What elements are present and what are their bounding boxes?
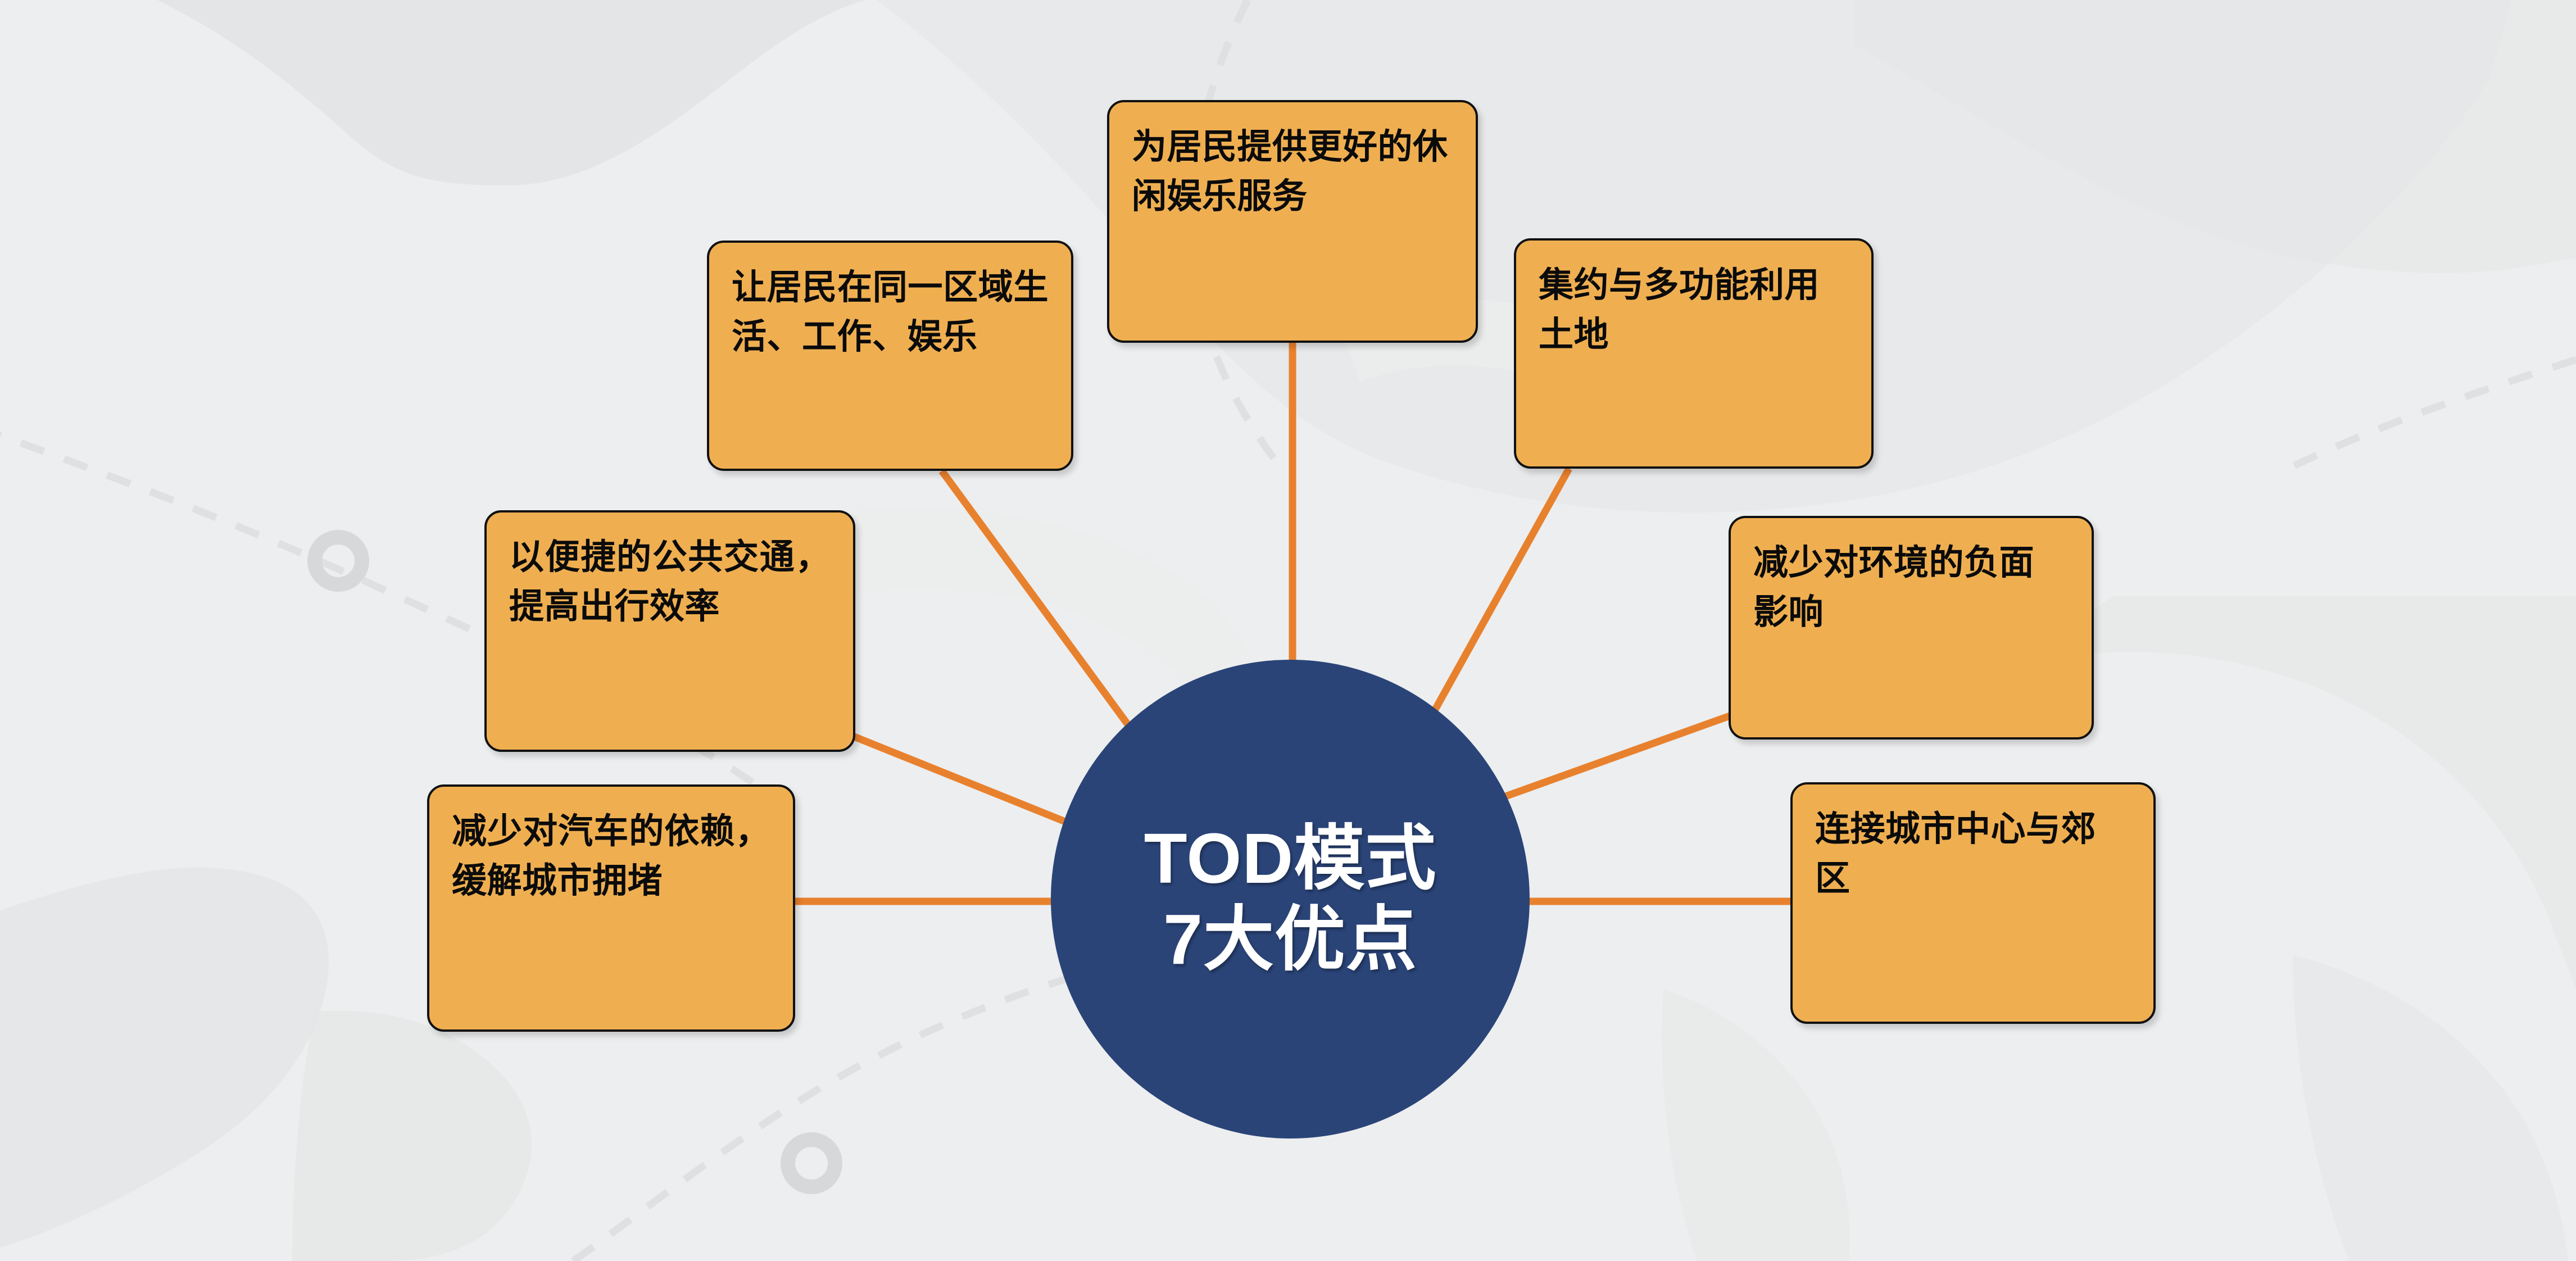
node-environment[interactable]: 减少对环境的负面影响	[1729, 516, 2094, 740]
connector-land-use	[1434, 469, 1569, 711]
center-hub[interactable]: TOD模式 7大优点	[1051, 660, 1530, 1138]
connector-live-work-play	[942, 471, 1152, 757]
node-land-use-label: 集约与多功能利用土地	[1539, 261, 1849, 360]
node-leisure[interactable]: 为居民提供更好的休闲娱乐服务	[1107, 100, 1478, 343]
node-less-cars[interactable]: 减少对汽车的依赖，缓解城市拥堵	[427, 784, 795, 1032]
diagram-canvas: TOD模式 7大优点 为居民提供更好的休闲娱乐服务 让居民在同一区域生活、工作、…	[0, 0, 2576, 1261]
node-leisure-label: 为居民提供更好的休闲娱乐服务	[1132, 123, 1453, 221]
connector-transit-efficiency	[842, 732, 1087, 831]
center-hub-line1: TOD模式	[1144, 818, 1437, 899]
node-transit-efficiency-label: 以便捷的公共交通，提高出行效率	[509, 533, 831, 632]
node-connect-city-label: 连接城市中心与郊区	[1815, 805, 2131, 904]
node-land-use[interactable]: 集约与多功能利用土地	[1514, 238, 1874, 469]
node-connect-city[interactable]: 连接城市中心与郊区	[1790, 782, 2156, 1024]
node-less-cars-label: 减少对汽车的依赖，缓解城市拥堵	[452, 807, 770, 906]
node-live-work-play-label: 让居民在同一区域生活、工作、娱乐	[732, 263, 1049, 362]
connector-environment	[1479, 716, 1730, 806]
node-environment-label: 减少对环境的负面影响	[1753, 538, 2069, 637]
center-hub-line2: 7大优点	[1163, 899, 1417, 980]
node-live-work-play[interactable]: 让居民在同一区域生活、工作、娱乐	[707, 241, 1073, 471]
node-transit-efficiency[interactable]: 以便捷的公共交通，提高出行效率	[484, 510, 855, 752]
